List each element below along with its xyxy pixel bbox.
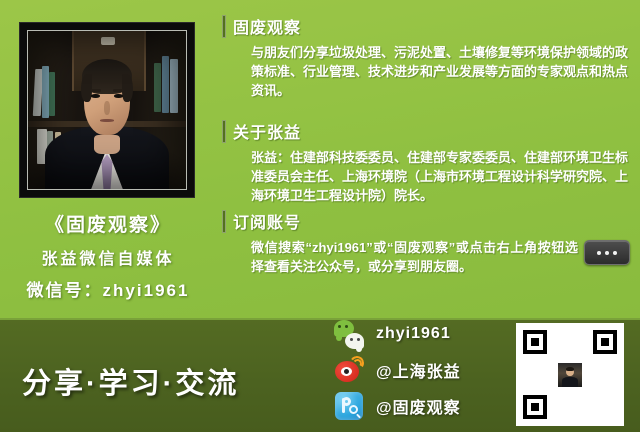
portrait-inner-border bbox=[27, 30, 187, 190]
section-marker-icon bbox=[222, 120, 226, 143]
brand-title: 《固废观察》 bbox=[0, 210, 216, 237]
section-marker-icon bbox=[222, 15, 226, 38]
social-row-weibo[interactable]: @上海张益 bbox=[334, 352, 509, 388]
wechat-id-line: 微信号：zhyi1961 bbox=[0, 276, 216, 301]
section-header: 订阅账号 bbox=[216, 209, 640, 235]
brand-subtitle: 张益微信自媒体 bbox=[0, 245, 216, 269]
qr-matrix bbox=[521, 328, 619, 421]
section-about-account: 固废观察 与朋友们分享垃圾处理、污泥处置、土壤修复等环境保护领域的政策标准、行业… bbox=[216, 14, 640, 100]
qr-center-avatar bbox=[558, 363, 582, 387]
weibo-icon bbox=[334, 355, 364, 385]
section-title: 关于张益 bbox=[233, 119, 301, 143]
promo-card: 《固废观察》 张益微信自媒体 微信号：zhyi1961 固废观察 与朋友们分享垃… bbox=[0, 0, 640, 432]
section-title: 订阅账号 bbox=[233, 209, 301, 233]
right-column: 固废观察 与朋友们分享垃圾处理、污泥处置、土壤修复等环境保护领域的政策标准、行业… bbox=[216, 0, 640, 318]
left-column: 《固废观察》 张益微信自媒体 微信号：zhyi1961 bbox=[0, 0, 216, 318]
section-body: 与朋友们分享垃圾处理、污泥处置、土壤修复等环境保护领域的政策标准、行业管理、技术… bbox=[251, 43, 628, 100]
social-label: zhyi1961 bbox=[376, 325, 451, 343]
section-title: 固废观察 bbox=[233, 14, 301, 38]
qr-code[interactable] bbox=[516, 323, 624, 426]
more-options-button[interactable] bbox=[584, 240, 630, 265]
section-subscribe: 订阅账号 微信搜索“zhyi1961”或“固废观察”或点击右上角按钮选择查看关注… bbox=[216, 209, 640, 276]
social-label: @上海张益 bbox=[376, 358, 461, 382]
wechat-icon bbox=[334, 319, 364, 349]
section-body: 张益：住建部科技委委员、住建部专家委委员、住建部环境卫生标准委员会主任、上海环境… bbox=[251, 148, 628, 205]
dot-icon bbox=[605, 251, 609, 255]
section-header: 固废观察 bbox=[216, 14, 640, 40]
dot-icon bbox=[613, 251, 617, 255]
dot-icon bbox=[597, 251, 601, 255]
slogan-text: 分享·学习·交流 bbox=[22, 360, 239, 402]
qr-finder-icon bbox=[593, 330, 617, 354]
section-header: 关于张益 bbox=[216, 119, 640, 145]
social-row-search[interactable]: @固废观察 bbox=[334, 388, 509, 424]
social-list: zhyi1961 @上海张益 @固废观察 bbox=[334, 316, 509, 424]
section-about-author: 关于张益 张益：住建部科技委委员、住建部专家委委员、住建部环境卫生标准委员会主任… bbox=[216, 119, 640, 205]
section-body: 微信搜索“zhyi1961”或“固废观察”或点击右上角按钮选择查看关注公众号，或… bbox=[251, 238, 578, 276]
portrait-frame bbox=[19, 22, 195, 198]
qr-finder-icon bbox=[523, 330, 547, 354]
section-marker-icon bbox=[222, 210, 226, 233]
social-row-wechat[interactable]: zhyi1961 bbox=[334, 316, 509, 352]
qr-finder-icon bbox=[523, 395, 547, 419]
social-label: @固废观察 bbox=[376, 394, 461, 418]
search-icon bbox=[334, 391, 364, 421]
portrait-photo bbox=[28, 31, 186, 189]
